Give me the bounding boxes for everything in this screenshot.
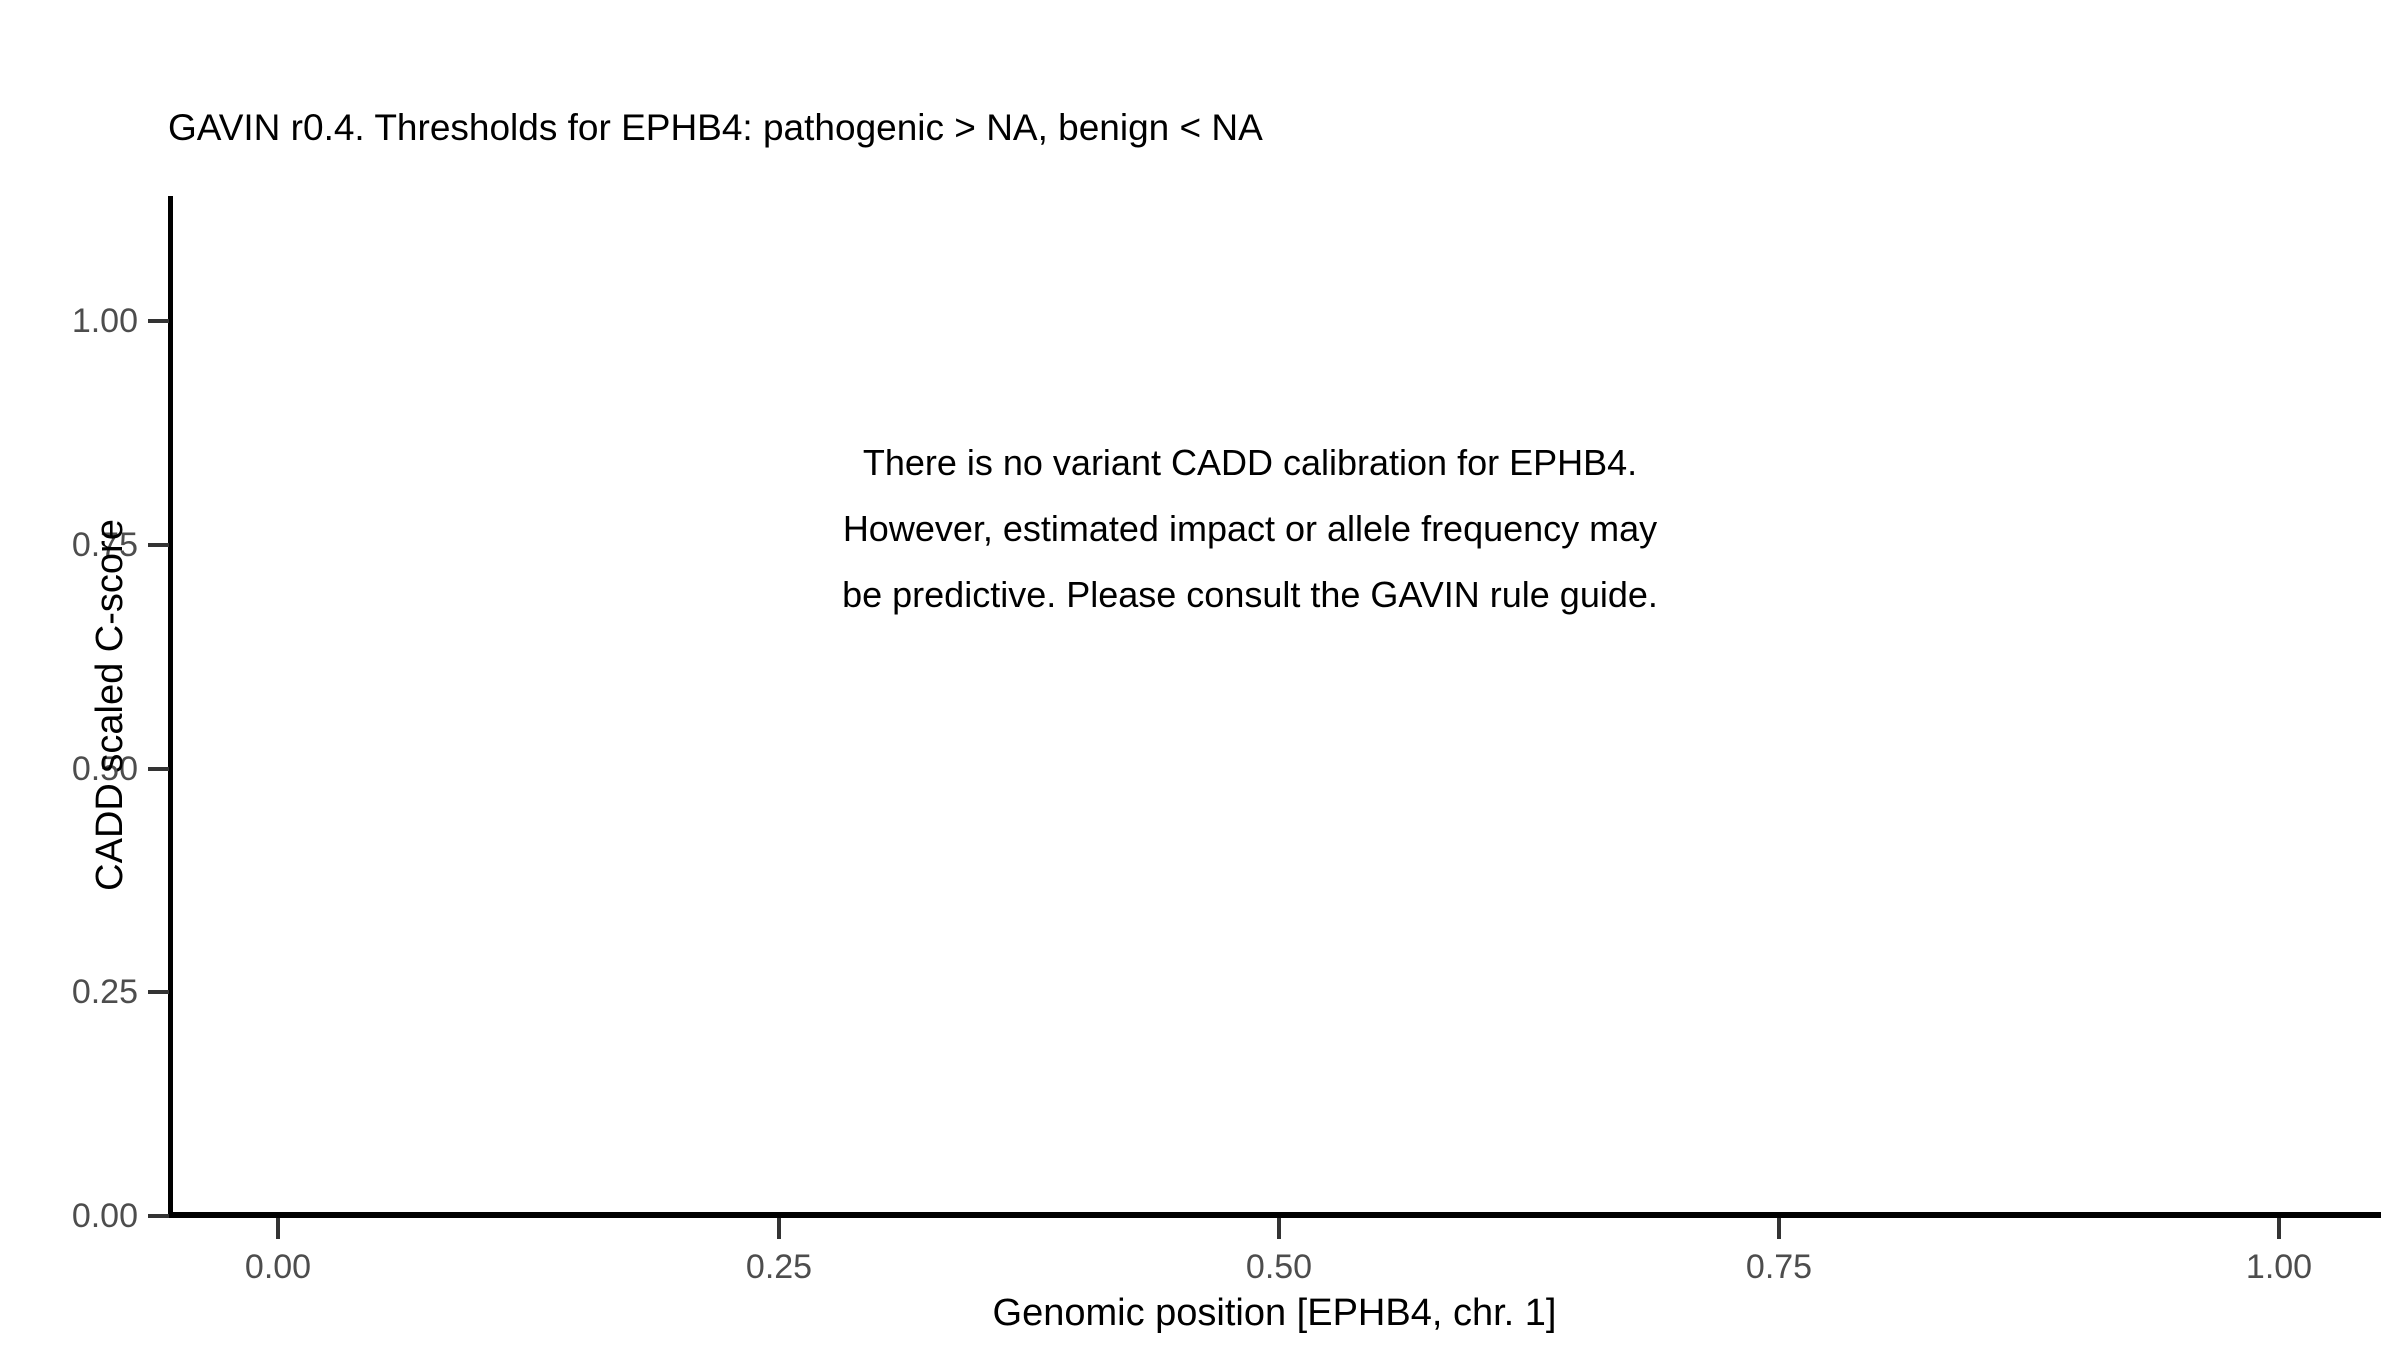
- y-tick-mark-0.00: [148, 1214, 169, 1218]
- annotation-line-2: However, estimated impact or allele freq…: [500, 496, 2000, 562]
- y-tick-mark-0.25: [148, 990, 169, 994]
- plot-panel: [171, 196, 2378, 1215]
- x-tick-label-1.00: 1.00: [2246, 1250, 2312, 1284]
- x-tick-mark-0.50: [1277, 1218, 1281, 1239]
- y-axis-title: CADD scaled C-score: [91, 195, 129, 1215]
- x-tick-mark-1.00: [2277, 1218, 2281, 1239]
- x-tick-label-0.25: 0.25: [746, 1250, 812, 1284]
- x-tick-label-0.50: 0.50: [1246, 1250, 1312, 1284]
- x-tick-label-0.00: 0.00: [245, 1250, 311, 1284]
- y-tick-mark-0.50: [148, 767, 169, 771]
- x-axis-title: Genomic position [EPHB4, chr. 1]: [171, 1294, 2378, 1332]
- x-tick-mark-0.00: [276, 1218, 280, 1239]
- y-tick-mark-1.00: [148, 319, 169, 323]
- x-tick-mark-0.75: [1777, 1218, 1781, 1239]
- x-axis-line: [168, 1212, 2381, 1218]
- title-line-1: GAVIN r0.4. Thresholds for EPHB4: pathog…: [168, 104, 2268, 152]
- x-tick-mark-0.25: [777, 1218, 781, 1239]
- y-axis-line: [168, 196, 173, 1218]
- y-tick-mark-0.75: [148, 543, 169, 547]
- panel-annotation: There is no variant CADD calibration for…: [500, 430, 2000, 628]
- chart-canvas: GAVIN r0.4. Thresholds for EPHB4: pathog…: [0, 0, 2400, 1350]
- x-tick-label-0.75: 0.75: [1746, 1250, 1812, 1284]
- annotation-line-3: be predictive. Please consult the GAVIN …: [500, 562, 2000, 628]
- annotation-line-1: There is no variant CADD calibration for…: [500, 430, 2000, 496]
